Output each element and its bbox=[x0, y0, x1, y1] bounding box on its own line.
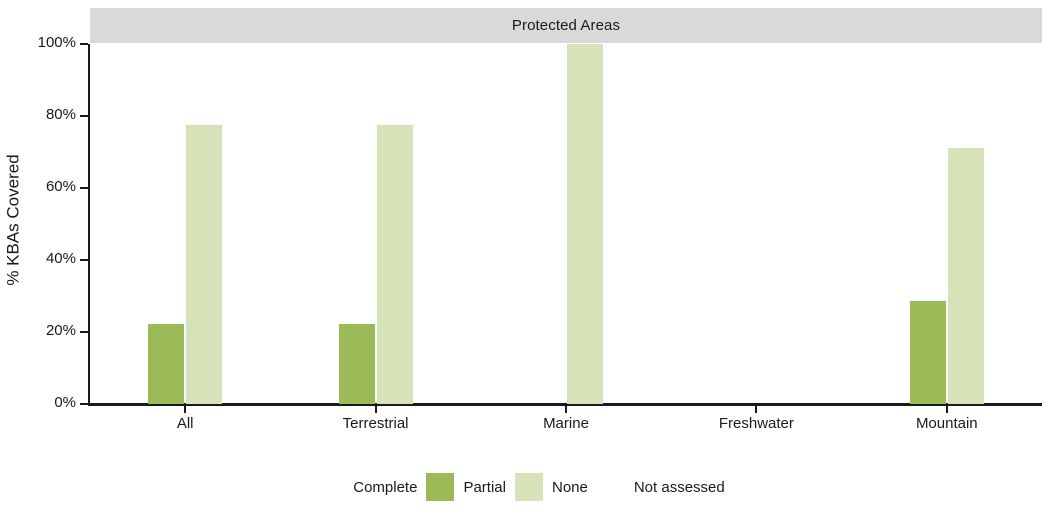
chart-container: Protected Areas % KBAs Covered 0%20%40%6… bbox=[0, 0, 1050, 525]
y-axis-tick bbox=[80, 259, 88, 261]
legend-label: None bbox=[543, 479, 597, 496]
y-axis-tick-label: 80% bbox=[10, 106, 76, 123]
y-axis-tick bbox=[80, 187, 88, 189]
bar bbox=[910, 301, 946, 404]
x-axis-tick bbox=[375, 406, 377, 413]
y-axis-tick-label: 40% bbox=[10, 250, 76, 267]
legend-swatch bbox=[426, 473, 454, 501]
x-axis-tick-label: Mountain bbox=[857, 415, 1037, 432]
x-axis-tick bbox=[184, 406, 186, 413]
x-axis-tick bbox=[946, 406, 948, 413]
y-axis-tick bbox=[80, 331, 88, 333]
x-axis-tick bbox=[755, 406, 757, 413]
y-axis-tick-label: 20% bbox=[10, 322, 76, 339]
x-axis-tick-label: Terrestrial bbox=[286, 415, 466, 432]
bar bbox=[377, 125, 413, 404]
bar bbox=[186, 125, 222, 404]
bar bbox=[339, 324, 375, 404]
legend-swatch bbox=[316, 473, 344, 501]
legend-swatch bbox=[597, 473, 625, 501]
bar bbox=[948, 148, 984, 404]
x-axis-tick bbox=[565, 406, 567, 413]
bar bbox=[567, 44, 603, 404]
legend-item[interactable]: Complete bbox=[316, 473, 426, 501]
y-axis-tick-label: 100% bbox=[10, 34, 76, 51]
legend-item[interactable]: Partial bbox=[426, 473, 515, 501]
y-axis-title: % KBAs Covered bbox=[0, 0, 28, 440]
x-axis-tick-label: Marine bbox=[476, 415, 656, 432]
y-axis-tick bbox=[80, 43, 88, 45]
y-axis-tick bbox=[80, 403, 88, 405]
y-axis-tick bbox=[80, 115, 88, 117]
legend: CompletePartialNoneNot assessed bbox=[0, 462, 1050, 512]
chart-title: Protected Areas bbox=[512, 17, 620, 34]
y-axis-tick-label: 0% bbox=[10, 394, 76, 411]
legend-label: Partial bbox=[454, 479, 515, 496]
legend-item[interactable]: Not assessed bbox=[597, 473, 734, 501]
legend-item[interactable]: None bbox=[515, 473, 597, 501]
facet-strip: Protected Areas bbox=[90, 8, 1042, 43]
legend-label: Complete bbox=[344, 479, 426, 496]
bar bbox=[148, 324, 184, 404]
x-axis-tick-label: Freshwater bbox=[666, 415, 846, 432]
x-axis-tick-label: All bbox=[95, 415, 275, 432]
legend-label: Not assessed bbox=[625, 479, 734, 496]
legend-swatch bbox=[515, 473, 543, 501]
y-axis-tick-label: 60% bbox=[10, 178, 76, 195]
plot-area bbox=[90, 44, 1042, 404]
